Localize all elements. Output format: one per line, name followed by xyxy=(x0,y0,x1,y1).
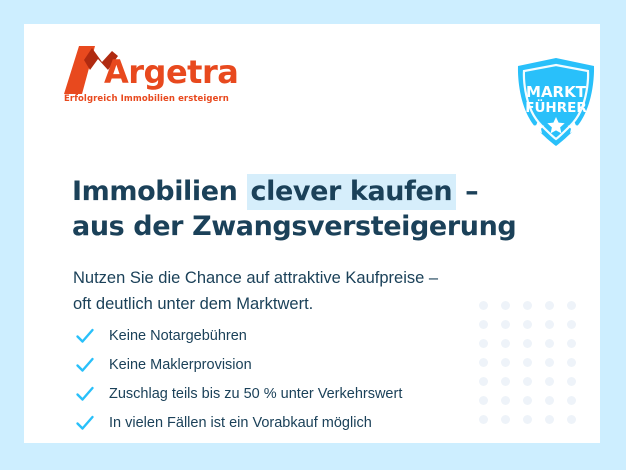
subheadline-line-1: Nutzen Sie die Chance auf attraktive Kau… xyxy=(73,265,573,291)
decor-dot xyxy=(567,358,576,367)
badge-line-1: MARKT xyxy=(526,83,587,101)
decor-dot xyxy=(567,339,576,348)
check-icon xyxy=(74,383,96,405)
list-item: In vielen Fällen ist ein Vorabkauf mögli… xyxy=(74,408,544,437)
page-headline: Immobilien clever kaufen – aus der Zwang… xyxy=(72,174,572,244)
decor-dot xyxy=(567,377,576,386)
list-item-label: Keine Maklerprovision xyxy=(109,355,252,375)
decor-dot xyxy=(567,396,576,405)
list-item: Zuschlag teils bis zu 50 % unter Verkehr… xyxy=(74,379,544,408)
logo-mark-row: Argetra xyxy=(62,46,362,94)
headline-text-before: Immobilien xyxy=(72,176,247,207)
badge-line-2: FÜHRER xyxy=(525,98,587,116)
check-icon xyxy=(74,325,96,347)
page-subheadline: Nutzen Sie die Chance auf attraktive Kau… xyxy=(73,265,573,317)
list-item: Keine Maklerprovision xyxy=(74,350,544,379)
list-item-label: In vielen Fällen ist ein Vorabkauf mögli… xyxy=(109,413,372,433)
shield-icon: MARKT FÜHRER xyxy=(513,57,599,149)
argetra-logo[interactable]: Argetra Erfolgreich Immobilien ersteiger… xyxy=(62,46,362,94)
logo-wordmark: Argetra xyxy=(104,52,238,92)
decor-dot xyxy=(545,339,554,348)
list-item-label: Zuschlag teils bis zu 50 % unter Verkehr… xyxy=(109,384,402,404)
banner-root: Argetra Erfolgreich Immobilien ersteiger… xyxy=(0,0,626,470)
logo-tagline: Erfolgreich Immobilien ersteigern xyxy=(64,94,229,104)
check-icon xyxy=(74,412,96,434)
decor-dot xyxy=(545,377,554,386)
list-item-label: Keine Notargebühren xyxy=(109,326,247,346)
headline-text-after: – xyxy=(456,176,478,207)
decor-dot xyxy=(567,320,576,329)
decor-dot xyxy=(545,358,554,367)
decor-dot xyxy=(567,415,576,424)
benefits-checklist: Keine Notargebühren Keine Maklerprovisio… xyxy=(74,321,544,437)
list-item: Keine Notargebühren xyxy=(74,321,544,350)
content-card: Argetra Erfolgreich Immobilien ersteiger… xyxy=(24,24,600,443)
decor-dot xyxy=(545,396,554,405)
decor-dot xyxy=(545,320,554,329)
markt-fuehrer-badge: MARKT FÜHRER xyxy=(513,57,599,149)
decor-dot xyxy=(545,415,554,424)
headline-line-1: Immobilien clever kaufen – xyxy=(72,174,572,209)
subheadline-line-2: oft deutlich unter dem Marktwert. xyxy=(73,291,573,317)
headline-line-2: aus der Zwangsversteigerung xyxy=(72,209,572,244)
headline-highlight: clever kaufen xyxy=(247,174,457,210)
check-icon xyxy=(74,354,96,376)
